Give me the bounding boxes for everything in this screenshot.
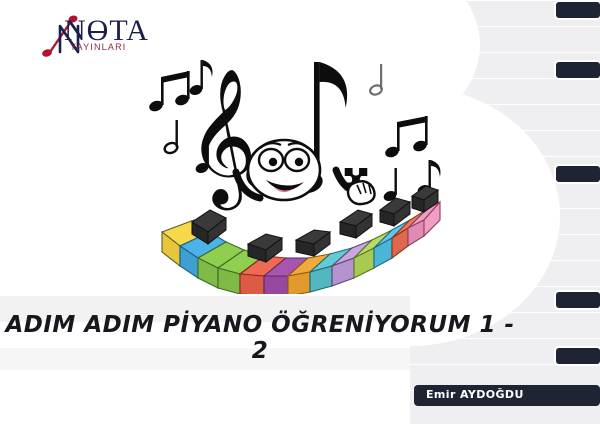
black-key: [556, 2, 600, 18]
book-title: ADIM ADIM PİYANO ÖĞRENİYORUM 1 - 2: [0, 312, 520, 364]
author-name: Emir AYDOĞDU: [426, 388, 524, 401]
scattered-note-quarter-right: [382, 168, 397, 203]
scattered-note-beamed-right: [384, 116, 429, 159]
logo-tagline: YAYINLARI: [70, 42, 126, 52]
book-cover: NOTA YAYINLARI: [0, 0, 600, 424]
author-bar: Emir AYDOĞDU: [414, 385, 600, 406]
character-right-hand: [348, 181, 375, 204]
logo-letter-a: A: [126, 14, 149, 47]
black-key: [556, 62, 600, 78]
scattered-note-beamed-left: [148, 71, 191, 113]
cover-illustration: 𝄞 𝄪: [140, 44, 460, 294]
colored-black-key: [340, 210, 372, 238]
black-key: [556, 292, 600, 308]
scattered-note-half-left: [163, 120, 178, 155]
black-key: [556, 166, 600, 182]
colored-black-key: [380, 198, 410, 226]
character-face: [248, 140, 320, 200]
scattered-note-half-right: [369, 64, 383, 96]
illustration-svg: 𝄞 𝄪: [140, 44, 460, 294]
colored-black-key: [296, 230, 330, 256]
black-key: [556, 348, 600, 364]
